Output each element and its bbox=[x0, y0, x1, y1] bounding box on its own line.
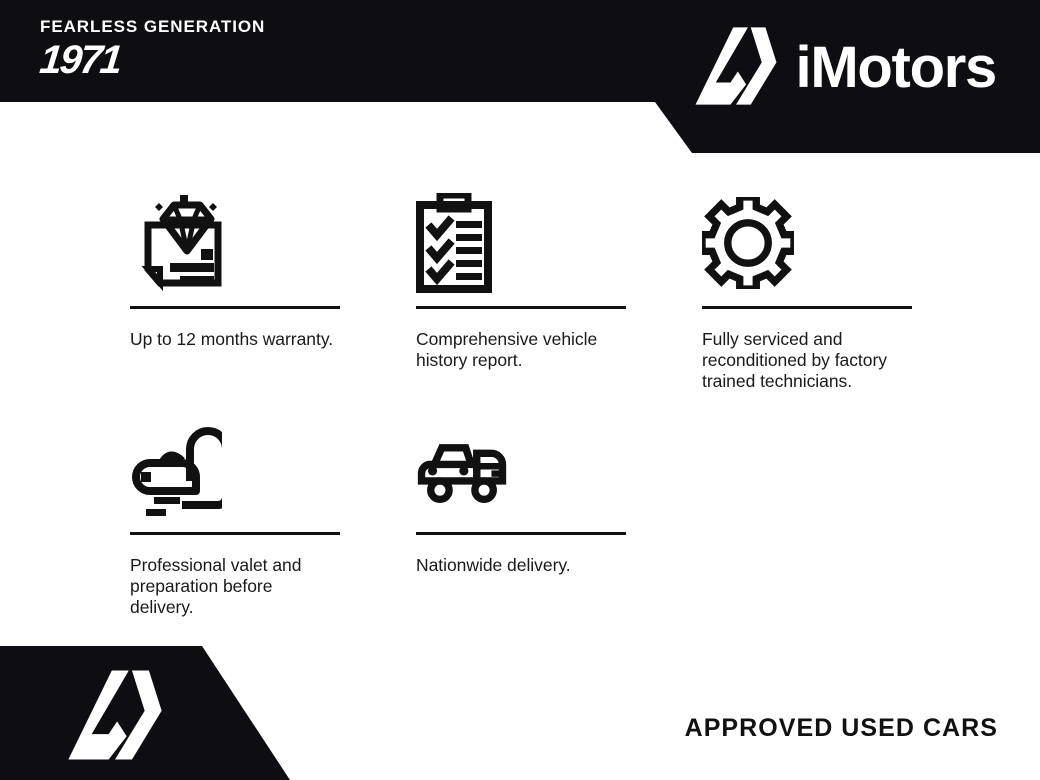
gear-cog-icon bbox=[702, 185, 912, 300]
header-brand-lockup: iMotors bbox=[690, 20, 997, 112]
feature-divider bbox=[416, 532, 626, 535]
feature-grid: Up to 12 months warranty. bbox=[130, 185, 920, 618]
feature-divider bbox=[130, 306, 340, 309]
clipboard-checklist-icon bbox=[416, 185, 626, 300]
feature-row-2: Professional valet and preparation befor… bbox=[130, 411, 920, 618]
footer-imotors-chevron-logo-icon bbox=[62, 662, 168, 768]
feature-text: Up to 12 months warranty. bbox=[130, 329, 335, 350]
feature-text: Fully serviced and reconditioned by fact… bbox=[702, 329, 907, 392]
warranty-diamond-certificate-icon bbox=[130, 185, 340, 300]
feature-card-serviced: Fully serviced and reconditioned by fact… bbox=[702, 185, 912, 392]
poster-canvas: FEARLESS GENERATION 1971 iMotors bbox=[0, 0, 1040, 780]
feature-card-delivery: Nationwide delivery. bbox=[416, 411, 626, 618]
feature-text: Comprehensive vehicle history report. bbox=[416, 329, 621, 371]
feature-text: Professional valet and preparation befor… bbox=[130, 555, 335, 618]
footer-tagline: APPROVED USED CARS bbox=[685, 714, 998, 743]
feature-divider bbox=[702, 306, 912, 309]
feature-row-1: Up to 12 months warranty. bbox=[130, 185, 920, 392]
header-year-mark: 1971 bbox=[38, 39, 382, 81]
header-banner: FEARLESS GENERATION 1971 iMotors bbox=[0, 0, 1040, 156]
feature-card-history-report: Comprehensive vehicle history report. bbox=[416, 185, 626, 392]
header-tagline: FEARLESS GENERATION bbox=[40, 18, 380, 37]
header-left-lockup: FEARLESS GENERATION 1971 bbox=[40, 18, 380, 81]
feature-divider bbox=[130, 532, 340, 535]
feature-card-warranty: Up to 12 months warranty. bbox=[130, 185, 340, 392]
feature-divider bbox=[416, 306, 626, 309]
vacuum-cleaner-icon bbox=[130, 411, 340, 526]
feature-card-valet: Professional valet and preparation befor… bbox=[130, 411, 340, 618]
feature-text: Nationwide delivery. bbox=[416, 555, 621, 576]
brand-wordmark: iMotors bbox=[796, 39, 997, 97]
car-transporter-truck-icon bbox=[416, 411, 626, 526]
imotors-chevron-logo-icon bbox=[690, 20, 782, 112]
